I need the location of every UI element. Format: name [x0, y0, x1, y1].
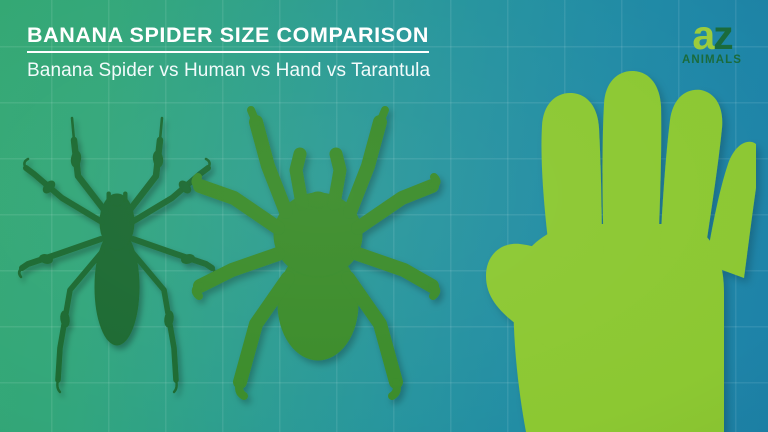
page-title: BANANA SPIDER SIZE COMPARISON [27, 24, 429, 53]
header: BANANA SPIDER SIZE COMPARISON Banana Spi… [27, 24, 587, 82]
logo-mark: az [674, 16, 750, 56]
logo-letter-z: z [713, 12, 732, 58]
logo-wordmark: ANIMALS [674, 54, 750, 66]
infographic-canvas: BANANA SPIDER SIZE COMPARISON Banana Spi… [0, 0, 768, 432]
page-subtitle: Banana Spider vs Human vs Hand vs Tarant… [27, 60, 587, 82]
banana-spider-silhouette [22, 112, 212, 392]
human-hand-silhouette [452, 48, 756, 432]
logo-letter-a: a [692, 12, 713, 58]
az-animals-logo[interactable]: az ANIMALS [674, 16, 750, 74]
tarantula-silhouette [198, 108, 434, 400]
